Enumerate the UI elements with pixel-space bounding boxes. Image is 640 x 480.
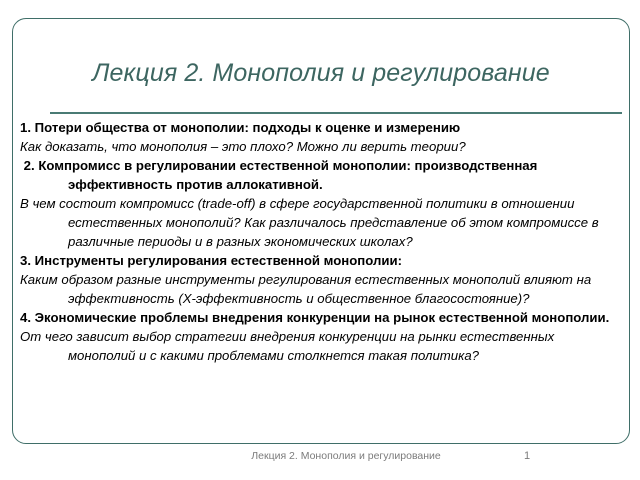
- body-line-5-text: 3. Инструменты регулирования естественно…: [20, 253, 402, 268]
- body-line-5: 3. Инструменты регулирования естественно…: [20, 251, 618, 270]
- body-line-3: 2. Компромисс в регулировании естественн…: [20, 156, 618, 194]
- body-line-2: Как доказать, что монополия – это плохо?…: [20, 137, 618, 156]
- page-title: Лекция 2. Монополия и регулирование: [14, 58, 628, 88]
- body-line-8-text: От чего зависит выбор стратегии внедрени…: [20, 329, 558, 363]
- slide-footer-text: Лекция 2. Монополия и регулирование: [246, 450, 446, 463]
- slide-page-number: 1: [500, 450, 554, 463]
- title-divider-rule: [50, 112, 622, 114]
- body-line-3-text: 2. Компромисс в регулировании естественн…: [20, 158, 541, 192]
- body-line-4-text: В чем состоит компромисс (trade-off) в с…: [20, 196, 602, 249]
- body-line-6-text: Каким образом разные инструменты регулир…: [20, 272, 595, 306]
- body-line-7-text: 4. Экономические проблемы внедрения конк…: [20, 310, 609, 325]
- body-line-2-text: Как доказать, что монополия – это плохо?…: [20, 139, 466, 154]
- body-line-1-text: 1. Потери общества от монополии: подходы…: [20, 120, 460, 135]
- body-line-1: 1. Потери общества от монополии: подходы…: [20, 118, 618, 137]
- body-line-4: В чем состоит компромисс (trade-off) в с…: [20, 194, 618, 251]
- body-line-7: 4. Экономические проблемы внедрения конк…: [20, 308, 618, 327]
- slide-body-content: 1. Потери общества от монополии: подходы…: [20, 118, 618, 365]
- presentation-slide: Лекция 2. Монополия и регулирование 1. П…: [0, 0, 640, 480]
- body-line-6: Каким образом разные инструменты регулир…: [20, 270, 618, 308]
- body-line-8: От чего зависит выбор стратегии внедрени…: [20, 327, 618, 365]
